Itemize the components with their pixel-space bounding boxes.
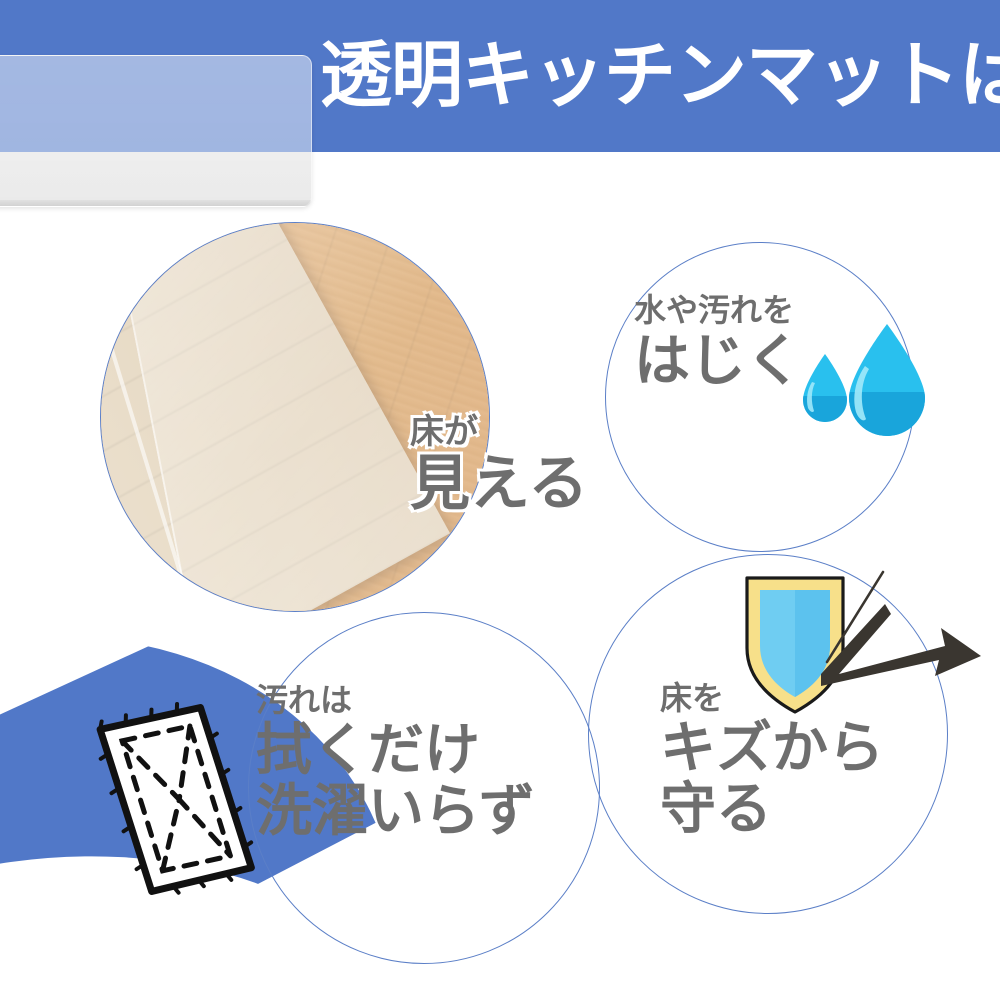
water-drop-small-shape (795, 354, 855, 436)
feature-label-visible: 床が 見える (410, 414, 588, 516)
product-feature-poster: 透明キッチンマットは 床が 見える 水や汚れを はじく (0, 0, 1000, 1000)
transparent-mat-sample-graphic (0, 55, 312, 207)
feature-visible-small-text: 床が (410, 414, 588, 450)
feature-protect-big-text: キズから (660, 718, 884, 777)
feature-protect-big-text-2: 守る (660, 779, 884, 838)
feature-wipe-small-text: 汚れは (256, 684, 535, 718)
page-title: 透明キッチンマットは (320, 18, 960, 134)
feature-repel-small-text: 水や汚れを (634, 294, 802, 328)
feature-visible-big-text: 見える (410, 452, 588, 516)
water-drop-large-shape (843, 324, 935, 437)
shield-icon (747, 578, 843, 712)
feature-wipe-big-text: 拭くだけ (256, 720, 535, 779)
feature-repel-big-text: はじく (634, 331, 802, 390)
feature-label-repel: 水や汚れを はじく (634, 294, 802, 390)
cloth-icon (88, 690, 268, 915)
feature-wipe-big-text-2: 洗濯いらず (256, 781, 535, 840)
shield-and-arrow-graphic (735, 570, 985, 720)
water-drop-icon (795, 312, 935, 437)
feature-label-wipe: 汚れは 拭くだけ 洗濯いらず (256, 684, 535, 841)
deflected-arrow-icon (821, 604, 981, 686)
